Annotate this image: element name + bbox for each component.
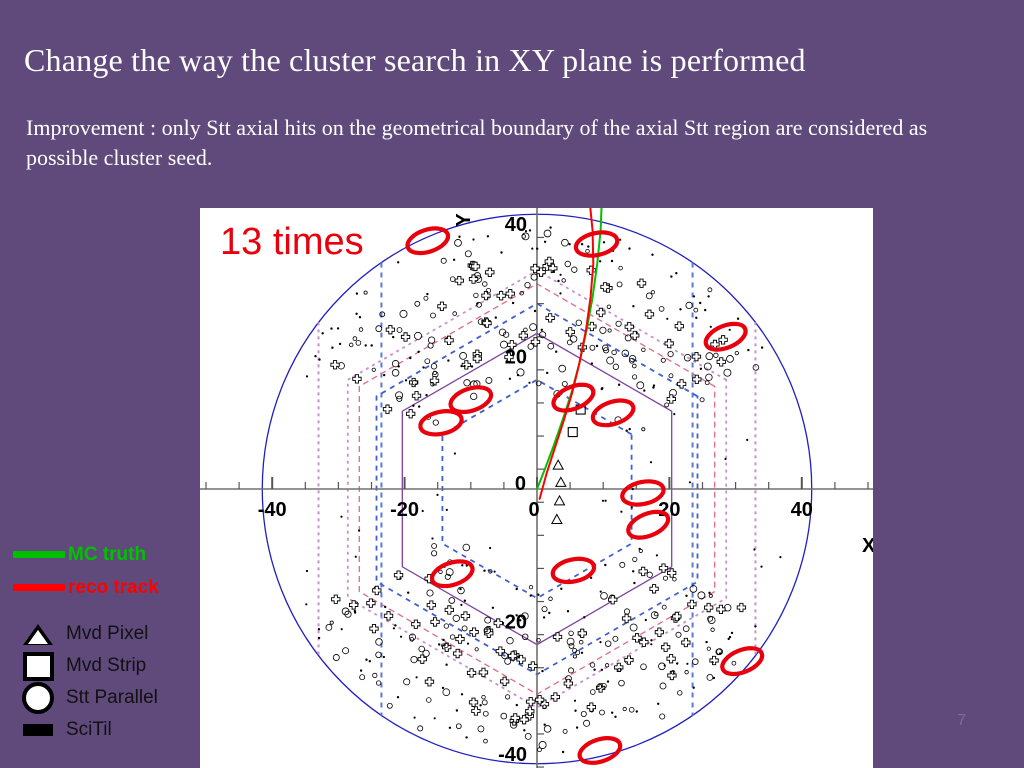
cluster-seed-ellipse-1 (404, 224, 451, 258)
stt-skewed-hit (455, 276, 463, 284)
stt-hit (642, 428, 645, 431)
stt-hit (516, 588, 518, 590)
stt-hit (594, 669, 596, 671)
stt-hit (581, 243, 583, 245)
stt-hit (567, 610, 569, 612)
stt-hit (528, 344, 534, 350)
stt-hit (426, 698, 431, 703)
stt-hit (696, 317, 698, 319)
stt-hit (517, 369, 524, 376)
stt-hit (683, 626, 689, 632)
stt-hit (607, 305, 611, 309)
stt-hit (492, 607, 494, 609)
stt-hit (449, 598, 455, 604)
stt-hit (676, 632, 681, 637)
stt-hit (602, 500, 603, 501)
stt-skewed-hit (737, 603, 745, 611)
stt-hit (341, 629, 342, 630)
stt-hit (605, 564, 607, 566)
stt-hit (600, 327, 606, 333)
stt-hit (373, 673, 377, 677)
stt-skewed-hit (615, 663, 623, 671)
stt-hit (599, 261, 601, 263)
stt-hit (590, 577, 592, 579)
x-tick-label: -20 (390, 499, 419, 521)
stt-hit (650, 462, 651, 463)
stt-skewed-hit (479, 668, 487, 676)
stt-hit (426, 394, 428, 396)
stt-hit (600, 591, 601, 592)
stt-skewed-hit (497, 292, 505, 300)
cluster-seed-ellipse-10 (429, 557, 476, 591)
stt-hit (501, 252, 503, 254)
stt-hit (613, 364, 619, 370)
stt-hit (700, 368, 702, 370)
stt-hit (397, 327, 402, 332)
stt-hit (651, 644, 652, 645)
stt-hit (572, 267, 578, 273)
stt-skewed-hit (688, 600, 696, 608)
stt-hit (647, 572, 652, 577)
stt-hit (549, 612, 551, 614)
stt-hit (622, 350, 629, 357)
stt-hit (400, 636, 401, 637)
stt-hit (428, 337, 434, 343)
stt-skewed-hit (383, 405, 391, 413)
stt-hit (605, 641, 611, 647)
stt-hit (414, 717, 415, 718)
stt-hit (660, 683, 666, 689)
stt-hit (748, 349, 750, 351)
stt-skewed-hit (677, 380, 685, 388)
stt-hit (318, 637, 320, 639)
stt-hit (418, 351, 420, 353)
legend-label-mc-truth: MC truth (68, 544, 146, 566)
stt-hit (712, 662, 713, 663)
stt-skewed-hit (587, 703, 595, 711)
mvd-pixel-hit (552, 514, 562, 523)
stt-hit (306, 376, 307, 377)
stt-hit (700, 398, 704, 402)
stt-hit (619, 680, 625, 686)
stt-hit (405, 380, 407, 382)
stt-hit (676, 663, 678, 665)
stt-skewed-hit (637, 279, 645, 287)
stt-hit (501, 713, 507, 719)
stt-hit (588, 246, 590, 248)
stt-hit (383, 374, 385, 376)
stt-hit (464, 365, 465, 366)
stt-skewed-hit (665, 339, 673, 347)
stt-skewed-hit (566, 328, 574, 336)
stt-skewed-hit (456, 635, 464, 643)
stt-hit (611, 260, 613, 262)
legend-label-reco-track: reco track (68, 577, 159, 599)
stt-skewed-hit (587, 266, 595, 274)
stt-hit (707, 674, 713, 680)
stt-hit (425, 359, 430, 364)
legend-item-mvd-pixel: Mvd Pixel (10, 618, 210, 650)
stt-hit (450, 277, 455, 282)
stt-hit (443, 639, 445, 641)
mvd-pixel-hit (556, 477, 566, 486)
stt-hit (478, 726, 484, 732)
stt-skewed-hit (655, 628, 663, 636)
stt-hit (732, 661, 736, 665)
stt-hit (365, 345, 367, 347)
stt-hit (423, 367, 425, 369)
stt-hit (423, 650, 430, 657)
stt-hit (466, 565, 468, 567)
y-tick-label: -40 (498, 744, 527, 766)
stt-hit (542, 670, 544, 672)
stt-hit (605, 500, 606, 501)
stt-hit (618, 384, 620, 386)
stt-hit (453, 259, 455, 261)
stt-hit (453, 615, 459, 621)
stt-hit (601, 669, 603, 671)
stt-hit (644, 390, 646, 392)
stt-skewed-hit (373, 586, 381, 594)
cluster-seed-ellipse-3 (702, 319, 749, 355)
stt-hit (448, 360, 450, 362)
stt-hit (463, 544, 470, 551)
stt-hit (461, 694, 463, 696)
stt-hit (538, 594, 540, 596)
stt-skewed-hit (407, 410, 415, 418)
stt-skewed-hit (472, 707, 480, 715)
stt-hit (755, 626, 757, 628)
stt-hit (315, 355, 317, 357)
stt-hit (661, 358, 665, 362)
stt-hit (407, 592, 409, 594)
stt-hit (596, 345, 598, 347)
stt-hit (494, 571, 495, 572)
stt-skewed-hit (564, 679, 572, 687)
stt-skewed-hit (370, 624, 378, 632)
stt-hit (505, 658, 511, 664)
stt-hit (548, 343, 554, 349)
stt-hit (397, 696, 399, 698)
stt-hit (332, 347, 334, 349)
stt-hit (413, 405, 415, 407)
stt-hit (384, 606, 386, 608)
stt-hit (433, 420, 438, 425)
stt-hit (464, 600, 466, 602)
cluster-seed-ellipse-9 (625, 507, 672, 543)
stt-hit (453, 312, 457, 316)
stt-hit (446, 664, 448, 666)
stt-skewed-hit (409, 378, 417, 386)
stt-hit (364, 291, 367, 294)
mvd-pixel-hit (555, 496, 565, 505)
stt-hit (619, 266, 623, 270)
stt-skewed-hit (486, 268, 494, 276)
stt-skewed-hit (467, 669, 475, 677)
stt-hit (410, 357, 412, 359)
stt-hit (708, 296, 710, 298)
stt-skewed-hit (717, 605, 725, 613)
stt-hit (559, 365, 566, 372)
cluster-seed-ellipse-6 (550, 380, 597, 416)
stt-hit (337, 328, 339, 330)
stt-hit (486, 288, 490, 292)
stt-hit (424, 296, 428, 300)
stt-skewed-hit (431, 618, 439, 626)
stt-hit (668, 351, 673, 356)
stt-hit (641, 664, 647, 670)
stt-hit (397, 262, 399, 264)
stt-hit (484, 570, 486, 572)
stt-hit (729, 329, 730, 330)
stt-hit (562, 751, 564, 753)
stt-hit (710, 326, 711, 327)
stt-hit (676, 272, 678, 274)
stt-hit (698, 592, 705, 599)
stt-hit (355, 556, 356, 557)
stt-hit (460, 588, 462, 590)
stt-hit (484, 739, 488, 743)
mvd-pixel-hit (553, 460, 563, 469)
stt-hit (318, 628, 320, 630)
stt-hit (544, 726, 551, 733)
stt-hit (707, 647, 710, 650)
page-title: Change the way the cluster search in XY … (24, 42, 1004, 79)
stt-hit (356, 313, 358, 315)
stt-hit (706, 641, 708, 643)
reco-track-line-icon (10, 584, 68, 591)
stt-hit (731, 632, 733, 634)
stt-hit (603, 242, 605, 244)
stt-hit (404, 679, 410, 685)
stt-hit (372, 368, 375, 371)
stt-hit (642, 348, 646, 352)
stt-hit (464, 380, 470, 386)
stt-skewed-hit (529, 662, 537, 670)
stt-hit (560, 293, 561, 294)
stt-hit (708, 617, 715, 624)
stt-skewed-hit (578, 629, 586, 637)
stt-hit (584, 720, 590, 726)
stt-hit (530, 595, 532, 597)
cluster-seed-ellipse-5 (418, 408, 464, 438)
stt-hit (444, 624, 449, 629)
stt-hit (359, 316, 361, 318)
stt-hit (631, 507, 632, 508)
stt-hit (525, 733, 531, 739)
stt-hit (747, 439, 748, 440)
stt-hit (632, 375, 636, 379)
stt-hit (354, 612, 356, 614)
stt-hit (326, 624, 332, 630)
stt-hit (601, 388, 603, 390)
stt-hit (613, 636, 618, 641)
stt-hit (431, 364, 437, 370)
stt-hit (456, 724, 461, 729)
stt-skewed-hit (412, 392, 420, 400)
stt-hit (590, 663, 594, 667)
page-number: 7 (957, 712, 966, 730)
stt-hit (761, 347, 763, 349)
stt-hit (392, 369, 399, 376)
stt-hit (414, 332, 421, 339)
stt-hit (561, 588, 563, 590)
stt-hit (516, 615, 518, 617)
stt-hit (761, 566, 762, 567)
stt-hit (432, 538, 433, 539)
legend-item-reco-track: reco track (10, 571, 210, 604)
stt-hit (400, 578, 401, 579)
stt-hit (487, 236, 489, 238)
stt-hit (376, 639, 383, 646)
subtitle-text: Improvement : only Stt axial hits on the… (26, 113, 986, 174)
stt-hit (333, 654, 339, 660)
stt-hit (341, 516, 342, 517)
stt-hit (567, 340, 572, 345)
stt-hit (709, 592, 711, 594)
xy-plane-scatter-plot: 13 times -40-2020404020-20-4000YX (200, 208, 873, 768)
stt-skewed-hit (546, 314, 554, 322)
stt-skewed-hit (639, 567, 647, 575)
stt-hit (674, 413, 675, 414)
stt-hit (660, 714, 665, 719)
stt-hit (418, 406, 420, 408)
stt-hit (565, 261, 571, 267)
stt-hit (356, 340, 361, 345)
stt-hit (544, 241, 546, 243)
stt-hit (639, 548, 641, 550)
stt-hit (456, 710, 458, 712)
stt-hit (735, 351, 738, 354)
stt-hit (544, 230, 551, 237)
stt-hit (686, 302, 692, 308)
stt-hit (358, 530, 359, 531)
stt-hit (608, 329, 611, 332)
stt-hit (607, 357, 614, 364)
stt-hit (560, 274, 561, 275)
x-origin-label: 0 (528, 499, 539, 521)
stt-hit (693, 687, 695, 689)
stt-hit (630, 624, 637, 631)
stt-hit (486, 377, 492, 383)
stt-hit (687, 663, 688, 664)
stt-hit (576, 727, 578, 729)
stt-hit (418, 726, 423, 731)
stt-skewed-hit (667, 654, 675, 662)
stt-hit (586, 249, 590, 253)
stt-hit (573, 655, 576, 658)
stt-hit (474, 293, 479, 298)
stt-hit (645, 619, 646, 620)
legend-item-scitil: SciTil (10, 714, 210, 746)
stt-hit (581, 652, 583, 654)
stt-hit (541, 329, 543, 331)
mc-truth-line-icon (10, 551, 68, 558)
stt-hit (422, 510, 423, 511)
stt-hit (579, 640, 583, 644)
stt-hit (480, 705, 482, 707)
stt-hit (737, 318, 739, 320)
stt-hit (626, 430, 628, 432)
stt-hit (659, 306, 664, 311)
stt-skewed-hit (430, 377, 438, 385)
stt-hit (629, 428, 631, 430)
stt-skewed-hit (401, 333, 409, 341)
stt-hit (400, 310, 407, 317)
stt-skewed-hit (675, 322, 683, 330)
stt-hit (434, 718, 435, 719)
stt-hit (728, 638, 730, 640)
stt-hit (576, 320, 582, 326)
stt-hit (536, 248, 538, 250)
mvd-strip-hit (568, 428, 577, 437)
stt-hit (343, 648, 349, 654)
stt-hit (431, 551, 436, 556)
stt-skewed-hit (704, 603, 712, 611)
stt-skewed-hit (500, 677, 508, 685)
stt-hit (600, 641, 601, 642)
stt-hit (371, 345, 373, 347)
stt-skewed-hit (332, 595, 340, 603)
stt-hit (387, 703, 392, 708)
stt-skewed-hit (645, 310, 653, 318)
stt-hit (392, 336, 394, 338)
stt-hit (689, 482, 690, 483)
stt-hit (711, 628, 715, 632)
stt-hit (657, 703, 659, 705)
stt-hit (546, 372, 548, 374)
stt-hit (629, 707, 634, 712)
stt-hit (330, 621, 333, 624)
stt-skewed-hit (386, 325, 394, 333)
stt-hit (729, 636, 731, 638)
stt-hit (465, 251, 471, 257)
stt-hit (590, 345, 595, 350)
stt-hit (634, 582, 636, 584)
stt-hit (680, 309, 682, 311)
stt-hit (441, 258, 446, 263)
stt-hit (467, 643, 468, 644)
stt-hit (575, 710, 577, 712)
stt-hit (395, 625, 397, 627)
stt-hit (427, 293, 429, 295)
stt-skewed-hit (462, 361, 470, 369)
cluster-seed-ellipse-2 (574, 229, 620, 259)
stt-hit (633, 557, 637, 561)
stt-hit (591, 363, 593, 365)
stt-hit (525, 230, 526, 231)
stt-hit (713, 677, 715, 679)
stt-skewed-hit (661, 643, 669, 651)
stt-skewed-hit (412, 620, 420, 628)
stt-hit (461, 604, 462, 605)
stt-hit (353, 337, 357, 341)
stt-hit (442, 687, 444, 689)
stt-hit (306, 604, 307, 605)
stt-hit (512, 302, 514, 304)
stt-skewed-hit (445, 606, 453, 614)
stt-hit (568, 668, 573, 673)
cluster-seed-ellipse-7 (590, 396, 637, 430)
stt-hit (319, 359, 321, 361)
stt-hit (617, 282, 622, 287)
stt-hit (428, 343, 433, 348)
stt-hit (600, 710, 605, 715)
stt-hit (663, 576, 667, 580)
stt-hit (322, 333, 324, 335)
stt-hit (685, 670, 689, 674)
stt-hit (584, 617, 586, 619)
